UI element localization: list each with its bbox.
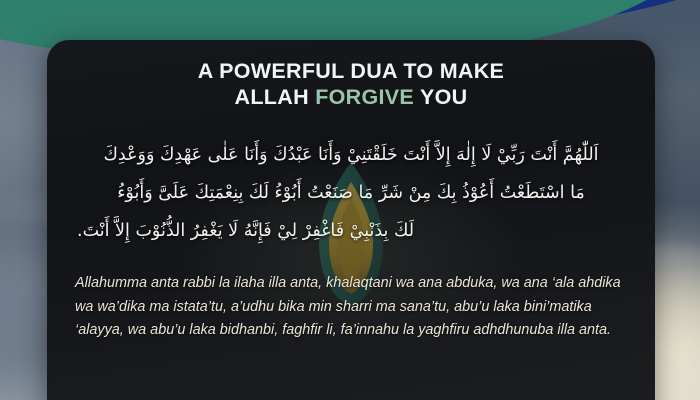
card-content: A POWERFUL DUA TO MAKE ALLAH FORGIVE YOU… xyxy=(47,58,655,343)
title-word-allah: ALLAH xyxy=(235,85,309,109)
title-word-you: YOU xyxy=(420,85,468,109)
arabic-line-2: مَا اسْتَطَعْتُ أَعُوْذُ بِكَ مِنْ شَرِّ… xyxy=(71,174,631,212)
title-word-forgive: FORGIVE xyxy=(315,85,414,109)
transliteration-text: Allahumma anta rabbi la ilaha illa anta,… xyxy=(71,272,631,343)
arabic-line-3: لَكَ بِذَنْبِيْ فَاغْفِرْ لِيْ فَإِنَّهُ… xyxy=(71,212,631,250)
page-title: A POWERFUL DUA TO MAKE ALLAH FORGIVE YOU xyxy=(71,58,631,110)
arabic-line-1: اَللّٰهُمَّ أَنْتَ رَبِّيْ لَا إِلٰهَ إِ… xyxy=(71,136,631,174)
dua-card: A POWERFUL DUA TO MAKE ALLAH FORGIVE YOU… xyxy=(47,40,655,400)
poster-canvas: A POWERFUL DUA TO MAKE ALLAH FORGIVE YOU… xyxy=(0,0,700,400)
title-line-1: A POWERFUL DUA TO MAKE xyxy=(71,58,631,84)
title-line-2: ALLAH FORGIVE YOU xyxy=(71,84,631,110)
arabic-dua-text: اَللّٰهُمَّ أَنْتَ رَبِّيْ لَا إِلٰهَ إِ… xyxy=(71,136,631,250)
